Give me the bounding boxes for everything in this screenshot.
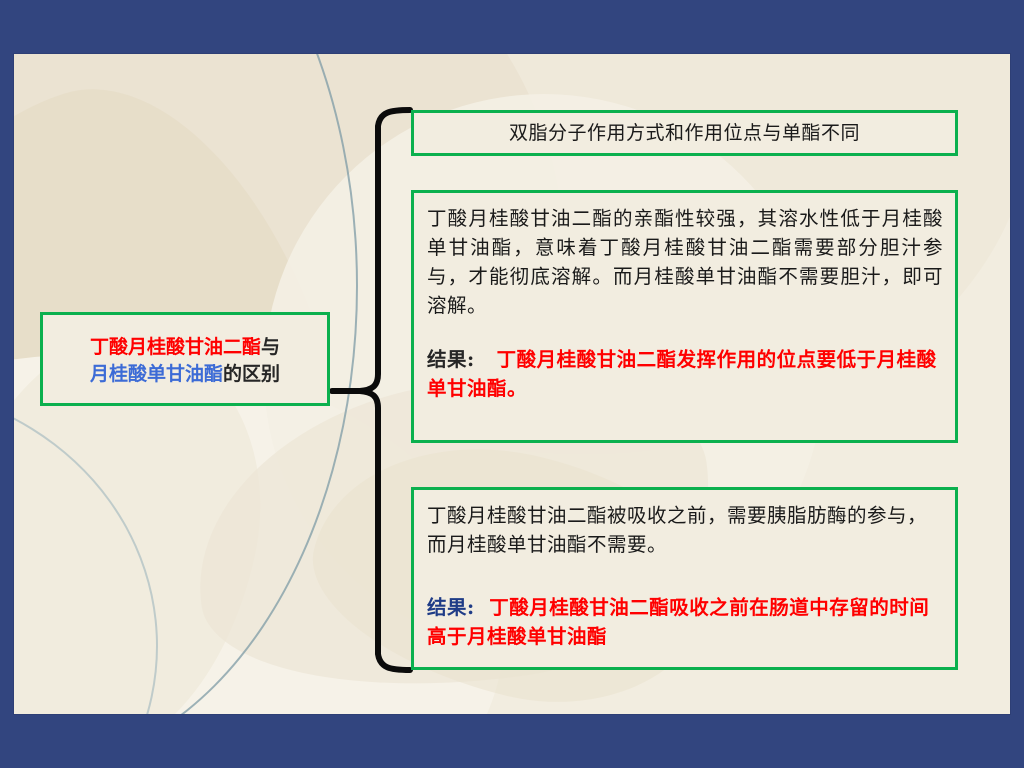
- curly-brace-connector: [330, 94, 416, 684]
- brace-icon: [330, 94, 416, 684]
- branch-absorption-box[interactable]: 丁酸月桂酸甘油二酯被吸收之前，需要胰脂肪酶的参与，而月桂酸单甘油酯不需要。 结果…: [411, 487, 958, 670]
- branch-solubility-paragraph: 丁酸月桂酸甘油二酯的亲酯性较强，其溶水性低于月桂酸单甘油酯，意味着丁酸月桂酸甘油…: [427, 205, 943, 320]
- branch-heading-box[interactable]: 双脂分子作用方式和作用位点与单酯不同: [411, 110, 958, 156]
- slide-canvas: 丁酸月桂酸甘油二酯与 月桂酸单甘油酯的区别 双脂分子作用方式和作用位点与单酯不同: [14, 54, 1010, 714]
- slide-root: 丁酸月桂酸甘油二酯与 月桂酸单甘油酯的区别 双脂分子作用方式和作用位点与单酯不同: [0, 0, 1024, 768]
- root-topic-monoester-term: 月桂酸单甘油酯: [90, 363, 223, 385]
- branch-absorption-result-label: 结果:: [427, 596, 475, 619]
- root-topic-line-1: 丁酸月桂酸甘油二酯与: [90, 332, 280, 359]
- branch-absorption-paragraph: 丁酸月桂酸甘油二酯被吸收之前，需要胰脂肪酶的参与，而月桂酸单甘油酯不需要。: [427, 502, 943, 560]
- root-topic-conjunction: 与: [261, 336, 280, 358]
- branch-solubility-result-body: 丁酸月桂酸甘油二酯发挥作用的位点要低于月桂酸单甘油酯。: [427, 348, 937, 400]
- root-topic-suffix: 的区别: [223, 363, 280, 385]
- branch-solubility-box[interactable]: 丁酸月桂酸甘油二酯的亲酯性较强，其溶水性低于月桂酸单甘油酯，意味着丁酸月桂酸甘油…: [411, 190, 958, 443]
- root-topic-box[interactable]: 丁酸月桂酸甘油二酯与 月桂酸单甘油酯的区别: [40, 312, 330, 406]
- branch-heading-text: 双脂分子作用方式和作用位点与单酯不同: [509, 119, 860, 147]
- root-topic-diester-term: 丁酸月桂酸甘油二酯: [90, 336, 261, 358]
- branch-absorption-result: 结果: 丁酸月桂酸甘油二酯吸收之前在肠道中存留的时间高于月桂酸单甘油酯: [427, 594, 943, 652]
- branch-absorption-result-body: 丁酸月桂酸甘油二酯吸收之前在肠道中存留的时间高于月桂酸单甘油酯: [427, 596, 929, 648]
- root-topic-line-2: 月桂酸单甘油酯的区别: [90, 359, 280, 386]
- content-layer: 丁酸月桂酸甘油二酯与 月桂酸单甘油酯的区别 双脂分子作用方式和作用位点与单酯不同: [14, 54, 1010, 714]
- branch-solubility-result: 结果: 丁酸月桂酸甘油二酯发挥作用的位点要低于月桂酸单甘油酯。: [427, 346, 943, 404]
- branch-solubility-result-label: 结果:: [427, 348, 475, 371]
